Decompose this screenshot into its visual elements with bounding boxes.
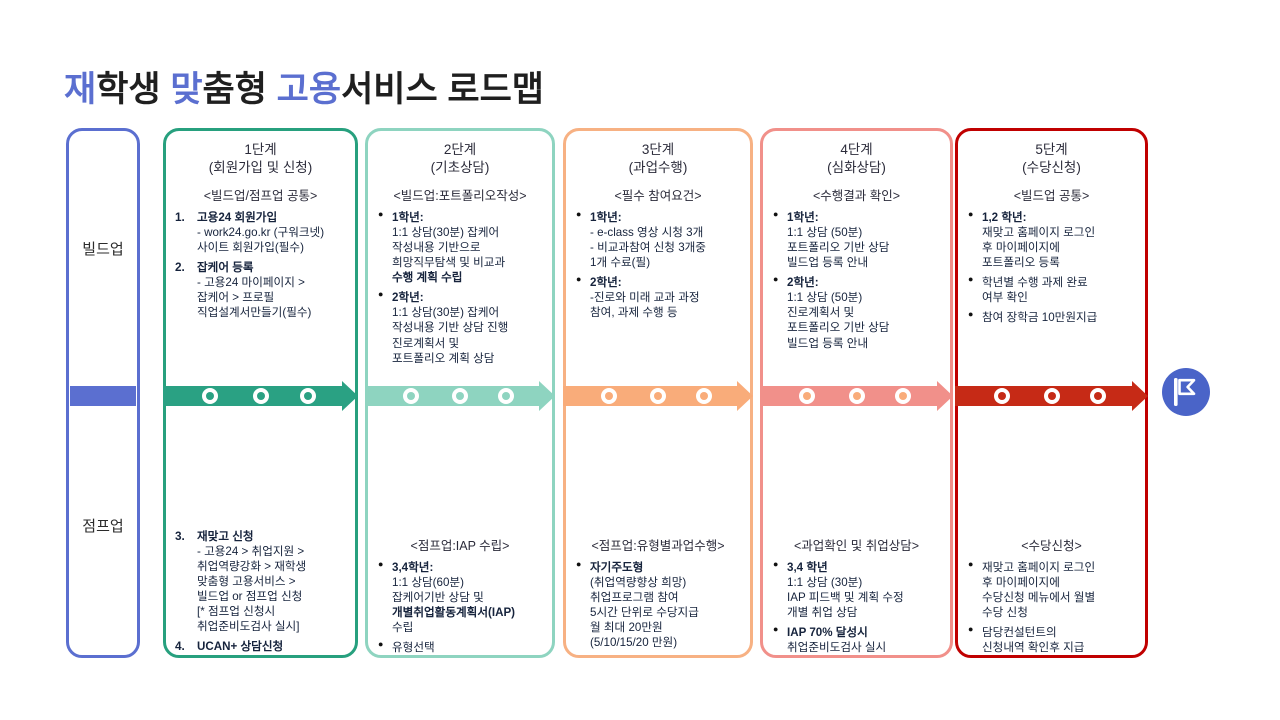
arrow-milestone-core	[1094, 392, 1102, 400]
stage-list-item: 담당컨설턴트의신청내역 확인후 지급절차 진행	[967, 625, 1136, 658]
title-segment: 서비스 로드맵	[341, 70, 544, 109]
stage-text-line: 사이트 회원가입(필수)	[197, 240, 346, 255]
stage-text-line: 수립	[392, 620, 543, 635]
stage-text-line: 2학년:	[787, 275, 941, 290]
stage-item-list: 1,2 학년:재맞고 홈페이지 로그인후 마이페이지에포트폴리오 등록학년별 수…	[967, 210, 1136, 325]
title-segment: 춤형	[203, 70, 277, 109]
stage-text-line: 여부 확인	[982, 290, 1136, 305]
arrow-milestone-dot	[452, 388, 468, 404]
stage-text-line: 맞춤형 고용서비스 >	[197, 574, 346, 589]
stage-list-item: 1학년:1:1 상담 (50분)포트폴리오 기반 상담빌드업 등록 안내	[772, 210, 941, 270]
stage-list-item: IAP 70% 달성시취업준비도검사 실시	[772, 625, 941, 655]
arrow-milestone-dot	[253, 388, 269, 404]
stage-text-line: 개별 취업 상담	[787, 605, 941, 620]
stage-title: 1단계	[166, 141, 355, 159]
arrow-milestone-core	[407, 392, 415, 400]
stage-text-line: 후 마이페이지에	[982, 240, 1136, 255]
stage-heading: 3단계(과업수행)	[566, 131, 750, 177]
arrow-milestone-dot	[696, 388, 712, 404]
stage-half-lower: <점프업:유형별과업수행>자기주도형(취업역량향상 희망)취업프로그램 참여5시…	[566, 529, 750, 651]
stage-title: 2단계	[368, 141, 552, 159]
stage-title: 5단계	[958, 141, 1145, 159]
arrow-milestone-dot	[300, 388, 316, 404]
stage-subtitle: (심화상담)	[763, 159, 950, 177]
stage-text-line: 1학년:	[392, 210, 543, 225]
stage-text-line: 서비스참여형	[590, 655, 741, 658]
stage-half-lower: <점프업:IAP 수립>3,4학년:1:1 상담(60분)잡케어기반 상담 및개…	[368, 529, 552, 651]
stage-list-item: 1,2 학년:재맞고 홈페이지 로그인후 마이페이지에포트폴리오 등록	[967, 210, 1136, 270]
arrow-milestone-core	[502, 392, 510, 400]
stage-item-list: 재맞고 홈페이지 로그인후 마이페이지에수당신청 메뉴에서 월별수당 신청담당컨…	[967, 560, 1136, 658]
arrow-milestone-core	[853, 392, 861, 400]
stage-text-line: (취업역량향상 희망)	[590, 575, 741, 590]
stage-title: 4단계	[763, 141, 950, 159]
stage-arrow-1	[163, 386, 358, 406]
stage-half-upper: <빌드업 공통>1,2 학년:재맞고 홈페이지 로그인후 마이페이지에포트폴리오…	[958, 179, 1145, 504]
stage-text-line: IAP 피드백 및 계획 수정	[787, 590, 941, 605]
arrow-milestone-core	[304, 392, 312, 400]
stage-text-line: 취업프로그램 참여	[590, 590, 741, 605]
stage-section-title: <과업확인 및 취업상담>	[772, 535, 941, 554]
arrow-milestone-dot	[994, 388, 1010, 404]
stage-arrow-2	[365, 386, 555, 406]
stage-text-line: - 고용24 마이페이지 >	[197, 275, 346, 290]
stage-section-title: <필수 참여요건>	[575, 185, 741, 204]
stage-item-number: 3.	[175, 529, 185, 544]
stage-text-line: 수당신청 메뉴에서 월별	[982, 590, 1136, 605]
stage-text-line: 잡케어 > 프로필	[197, 290, 346, 305]
stage-text-line: 재맞고 신청	[197, 529, 346, 544]
stage-text-line: 재맞고 홈페이지 로그인	[982, 560, 1136, 575]
goal-flag-badge	[1162, 368, 1210, 416]
arrow-milestone-core	[654, 392, 662, 400]
stage-list-item: 1학년:1:1 상담(30분) 잡케어작성내용 기반으로희망직무탐색 및 비교과…	[377, 210, 543, 285]
stage-text-line: 유형선택	[392, 640, 543, 655]
stage-item-list: 3,4학년:1:1 상담(60분)잡케어기반 상담 및개별취업활동계획서(IAP…	[377, 560, 543, 658]
stage-text-line: 5시간 단위로 수당지급	[590, 605, 741, 620]
stage-section-title: <점프업:IAP 수립>	[377, 535, 543, 554]
stage-item-list: 1학년:1:1 상담(30분) 잡케어작성내용 기반으로희망직무탐색 및 비교과…	[377, 210, 543, 366]
arrow-milestone-core	[605, 392, 613, 400]
stage-text-line: 빌드업 등록 안내	[787, 255, 941, 270]
stage-item-list: 자기주도형(취업역량향상 희망)취업프로그램 참여5시간 단위로 수당지급월 최…	[575, 560, 741, 658]
stage-arrow-4	[760, 386, 953, 406]
stage-subtitle: (기초상담)	[368, 159, 552, 177]
arrow-milestone-dot	[601, 388, 617, 404]
stage-text-line: 재맞고 홈페이지 로그인	[982, 225, 1136, 240]
stage-text-line: -진로와 미래 교과 과정	[590, 290, 741, 305]
title-segment: 학생	[96, 70, 170, 109]
stage-text-line: 포트폴리오 기반 상담	[787, 320, 941, 335]
stage-text-line: 참여, 과제 수행 등	[590, 305, 741, 320]
arrow-milestone-dot	[799, 388, 815, 404]
stage-list-item: 재맞고 홈페이지 로그인후 마이페이지에수당신청 메뉴에서 월별수당 신청	[967, 560, 1136, 620]
stage-item-list: 1학년:1:1 상담 (50분)포트폴리오 기반 상담빌드업 등록 안내2학년:…	[772, 210, 941, 351]
stage-item-list: 1.고용24 회원가입- work24.go.kr (구워크넷)사이트 회원가입…	[175, 210, 346, 320]
stage-text-line: - work24.go.kr (구워크넷)	[197, 225, 346, 240]
stage-heading: 4단계(심화상담)	[763, 131, 950, 177]
stage-text-line: 3,4 학년	[787, 560, 941, 575]
stage-text-line: 빌드업 or 점프업 신청	[197, 589, 346, 604]
stage-text-line: IAP 70% 달성시	[787, 625, 941, 640]
arrow-milestone-core	[803, 392, 811, 400]
stage-text-line: 빌드업 등록 안내	[787, 336, 941, 351]
arrow-tip	[737, 381, 753, 411]
stage-list-item: 2학년:1:1 상담(30분) 잡케어작성내용 기반 상담 진행진로계획서 및포…	[377, 290, 543, 365]
arrow-milestone-core	[206, 392, 214, 400]
arrow-milestone-core	[998, 392, 1006, 400]
stage-text-line: 고용24 회원가입	[197, 210, 346, 225]
stage-list-item: 3.재맞고 신청- 고용24 > 취업지원 >취업역량강화 > 재학생맞춤형 고…	[175, 529, 346, 634]
stage-item-number: 1.	[175, 210, 185, 225]
stage-text-line: 수당 신청	[982, 605, 1136, 620]
arrow-milestone-dot	[1090, 388, 1106, 404]
stage-list-item: 자기주도형(취업역량향상 희망)취업프로그램 참여5시간 단위로 수당지급월 최…	[575, 560, 741, 650]
stage-list-item: 2학년:1:1 상담 (50분)진로계획서 및포트폴리오 기반 상담빌드업 등록…	[772, 275, 941, 350]
stage-list-item: 학년별 수행 과제 완료여부 확인	[967, 275, 1136, 305]
arrow-tip	[937, 381, 953, 411]
arrow-milestone-core	[456, 392, 464, 400]
stage-text-line: 절차 진행	[982, 655, 1136, 658]
stage-text-line: 진로계획서 및	[787, 305, 941, 320]
stage-text-line: 2학년:	[590, 275, 741, 290]
track-label-jumpup: 점프업	[66, 515, 140, 536]
stage-item-list: 1학년:- e-class 영상 시청 3개- 비교과참여 신청 3개중1개 수…	[575, 210, 741, 320]
stage-text-line: 담당컨설턴트의	[982, 625, 1136, 640]
stage-text-line: (자기주도형/서비스참여형)	[392, 655, 543, 658]
stage-list-item: 1학년:- e-class 영상 시청 3개- 비교과참여 신청 3개중1개 수…	[575, 210, 741, 270]
arrow-milestone-dot	[650, 388, 666, 404]
stage-text-line: 1학년:	[787, 210, 941, 225]
stage-text-line: 취업준비도검사 실시	[787, 640, 941, 655]
stage-half-lower: 3.재맞고 신청- 고용24 > 취업지원 >취업역량강화 > 재학생맞춤형 고…	[166, 529, 355, 651]
track-band-bar	[70, 386, 136, 406]
stage-text-line: 신청내역 확인후 지급	[982, 640, 1136, 655]
stage-text-line: 1:1 상담 (50분)	[787, 225, 941, 240]
title-segment: 고용	[277, 70, 341, 109]
stage-subtitle: (수당신청)	[958, 159, 1145, 177]
stage-half-upper: <필수 참여요건>1학년:- e-class 영상 시청 3개- 비교과참여 신…	[566, 179, 750, 504]
stage-text-line: 1,2 학년:	[982, 210, 1136, 225]
arrow-milestone-core	[700, 392, 708, 400]
stage-text-line: 1:1 상담(30분) 잡케어	[392, 305, 543, 320]
stage-text-line: 월 최대 20만원	[590, 620, 741, 635]
stage-list-item: 3,4학년:1:1 상담(60분)잡케어기반 상담 및개별취업활동계획서(IAP…	[377, 560, 543, 635]
stage-section-title: <수당신청>	[967, 535, 1136, 554]
stage-text-line: 3,4학년:	[392, 560, 543, 575]
stage-text-line: - e-class 영상 시청 3개	[590, 225, 741, 240]
stage-text-line: [* 점프업 신청시	[197, 604, 346, 619]
stage-text-line: 1개 수료(필)	[590, 255, 741, 270]
stage-text-line: 잡케어기반 상담 및	[392, 590, 543, 605]
arrow-milestone-dot	[895, 388, 911, 404]
stage-list-item: 참여 장학금 10만원지급	[967, 310, 1136, 325]
stage-text-line: 참여 장학금 10만원지급	[982, 310, 1136, 325]
stage-section-title: <빌드업:포트폴리오작성>	[377, 185, 543, 204]
stage-list-item: 1.고용24 회원가입- work24.go.kr (구워크넷)사이트 회원가입…	[175, 210, 346, 255]
stage-section-title: <빌드업 공통>	[967, 185, 1136, 204]
stage-text-line: 진로계획서 및	[392, 336, 543, 351]
stage-subtitle: (과업수행)	[566, 159, 750, 177]
stage-item-number: 2.	[175, 260, 185, 275]
arrow-milestone-dot	[403, 388, 419, 404]
stage-text-line: 개별취업활동계획서(IAP)	[392, 605, 543, 620]
stage-text-line: 자기주도형	[590, 560, 741, 575]
stage-text-line: 희망직무탐색 및 비교과	[392, 255, 543, 270]
stage-arrow-3	[563, 386, 753, 406]
stage-text-line: UCAN+ 상담신청	[197, 639, 346, 654]
stage-arrow-5	[955, 386, 1148, 406]
stage-text-line: 작성내용 기반으로	[392, 240, 543, 255]
stage-list-item: 유형선택(자기주도형/서비스참여형)	[377, 640, 543, 658]
track-band	[70, 386, 136, 406]
stage-item-list: 3,4 학년1:1 상담 (30분)IAP 피드백 및 계획 수정개별 취업 상…	[772, 560, 941, 658]
arrow-milestone-dot	[498, 388, 514, 404]
stage-text-line: - 교내상담시스템	[197, 655, 346, 659]
stage-list-item: 3,4 학년1:1 상담 (30분)IAP 피드백 및 계획 수정개별 취업 상…	[772, 560, 941, 620]
stage-list-item: 2학년:-진로와 미래 교과 과정참여, 과제 수행 등	[575, 275, 741, 320]
stage-section-title: <점프업:유형별과업수행>	[575, 535, 741, 554]
stage-text-line: 학년별 수행 과제 완료	[982, 275, 1136, 290]
stage-text-line: 후 마이페이지에	[982, 575, 1136, 590]
track-label-buildup: 빌드업	[66, 238, 140, 259]
stage-half-upper: <빌드업:포트폴리오작성>1학년:1:1 상담(30분) 잡케어작성내용 기반으…	[368, 179, 552, 504]
stage-section-title: <수행결과 확인>	[772, 185, 941, 204]
stage-section-title: <빌드업/점프업 공통>	[175, 185, 346, 204]
stage-list-item: 2.잡케어 등록- 고용24 마이페이지 >잡케어 > 프로필직업설계서만들기(…	[175, 260, 346, 320]
title-segment: 맞	[170, 70, 202, 109]
arrow-milestone-dot	[849, 388, 865, 404]
stage-title: 3단계	[566, 141, 750, 159]
stage-half-upper: <수행결과 확인>1학년:1:1 상담 (50분)포트폴리오 기반 상담빌드업 …	[763, 179, 950, 504]
stage-half-upper: <빌드업/점프업 공통>1.고용24 회원가입- work24.go.kr (구…	[166, 179, 355, 504]
stage-text-line: 수행 계획 수립	[392, 270, 543, 285]
flag-icon	[1173, 378, 1199, 406]
stage-heading: 2단계(기초상담)	[368, 131, 552, 177]
stage-text-line: - 고용24 > 취업지원 >	[197, 544, 346, 559]
stage-heading: 5단계(수당신청)	[958, 131, 1145, 177]
stage-text-line: 직업설계서만들기(필수)	[197, 305, 346, 320]
stage-list-item: 서비스참여형(직무역량 향상 희망)월 20시간, 교 내외취업프로그램참여	[575, 655, 741, 658]
stage-subtitle: (회원가입 및 신청)	[166, 159, 355, 177]
stage-text-line: (5/10/15/20 만원)	[590, 635, 741, 650]
arrow-milestone-dot	[1044, 388, 1060, 404]
stage-text-line: 1:1 상담 (50분)	[787, 290, 941, 305]
stage-text-line: 취업준비도검사 실시]	[197, 619, 346, 634]
stage-text-line: 포트폴리오 등록	[982, 255, 1136, 270]
stage-half-lower: <과업확인 및 취업상담>3,4 학년1:1 상담 (30분)IAP 피드백 및…	[763, 529, 950, 651]
stage-item-number: 4.	[175, 639, 185, 654]
arrow-milestone-dot	[202, 388, 218, 404]
arrow-tip	[1132, 381, 1148, 411]
stage-half-lower: <수당신청>재맞고 홈페이지 로그인후 마이페이지에수당신청 메뉴에서 월별수당…	[958, 529, 1145, 651]
stage-text-line: 포트폴리오 기반 상담	[787, 240, 941, 255]
stage-list-item: 4.UCAN+ 상담신청- 교내상담시스템UCAN+ 취업상담 신청- 빌드업/…	[175, 639, 346, 658]
stage-text-line: 1:1 상담 (30분)	[787, 575, 941, 590]
stage-text-line: 작성내용 기반 상담 진행	[392, 320, 543, 335]
stage-item-list: 3.재맞고 신청- 고용24 > 취업지원 >취업역량강화 > 재학생맞춤형 고…	[175, 529, 346, 658]
arrow-milestone-core	[1048, 392, 1056, 400]
title-segment: 재	[64, 70, 96, 109]
stage-text-line: 포트폴리오 계획 상담	[392, 351, 543, 366]
stage-text-line: 1학년:	[590, 210, 741, 225]
stage-text-line: 취업역량강화 > 재학생	[197, 559, 346, 574]
arrow-milestone-core	[899, 392, 907, 400]
arrow-tip	[342, 381, 358, 411]
roadmap-diagram: 재학생 맞춤형 고용서비스 로드맵 빌드업 점프업 1단계(회원가입 및 신청)…	[0, 0, 1280, 720]
arrow-milestone-core	[257, 392, 265, 400]
arrow-tip	[539, 381, 555, 411]
page-title: 재학생 맞춤형 고용서비스 로드맵	[64, 61, 544, 112]
stage-text-line: - 비교과참여 신청 3개중	[590, 240, 741, 255]
stage-text-line: 2학년:	[392, 290, 543, 305]
stage-heading: 1단계(회원가입 및 신청)	[166, 131, 355, 177]
stage-text-line: 잡케어 등록	[197, 260, 346, 275]
stage-text-line: 1:1 상담(30분) 잡케어	[392, 225, 543, 240]
stage-text-line: 1:1 상담(60분)	[392, 575, 543, 590]
